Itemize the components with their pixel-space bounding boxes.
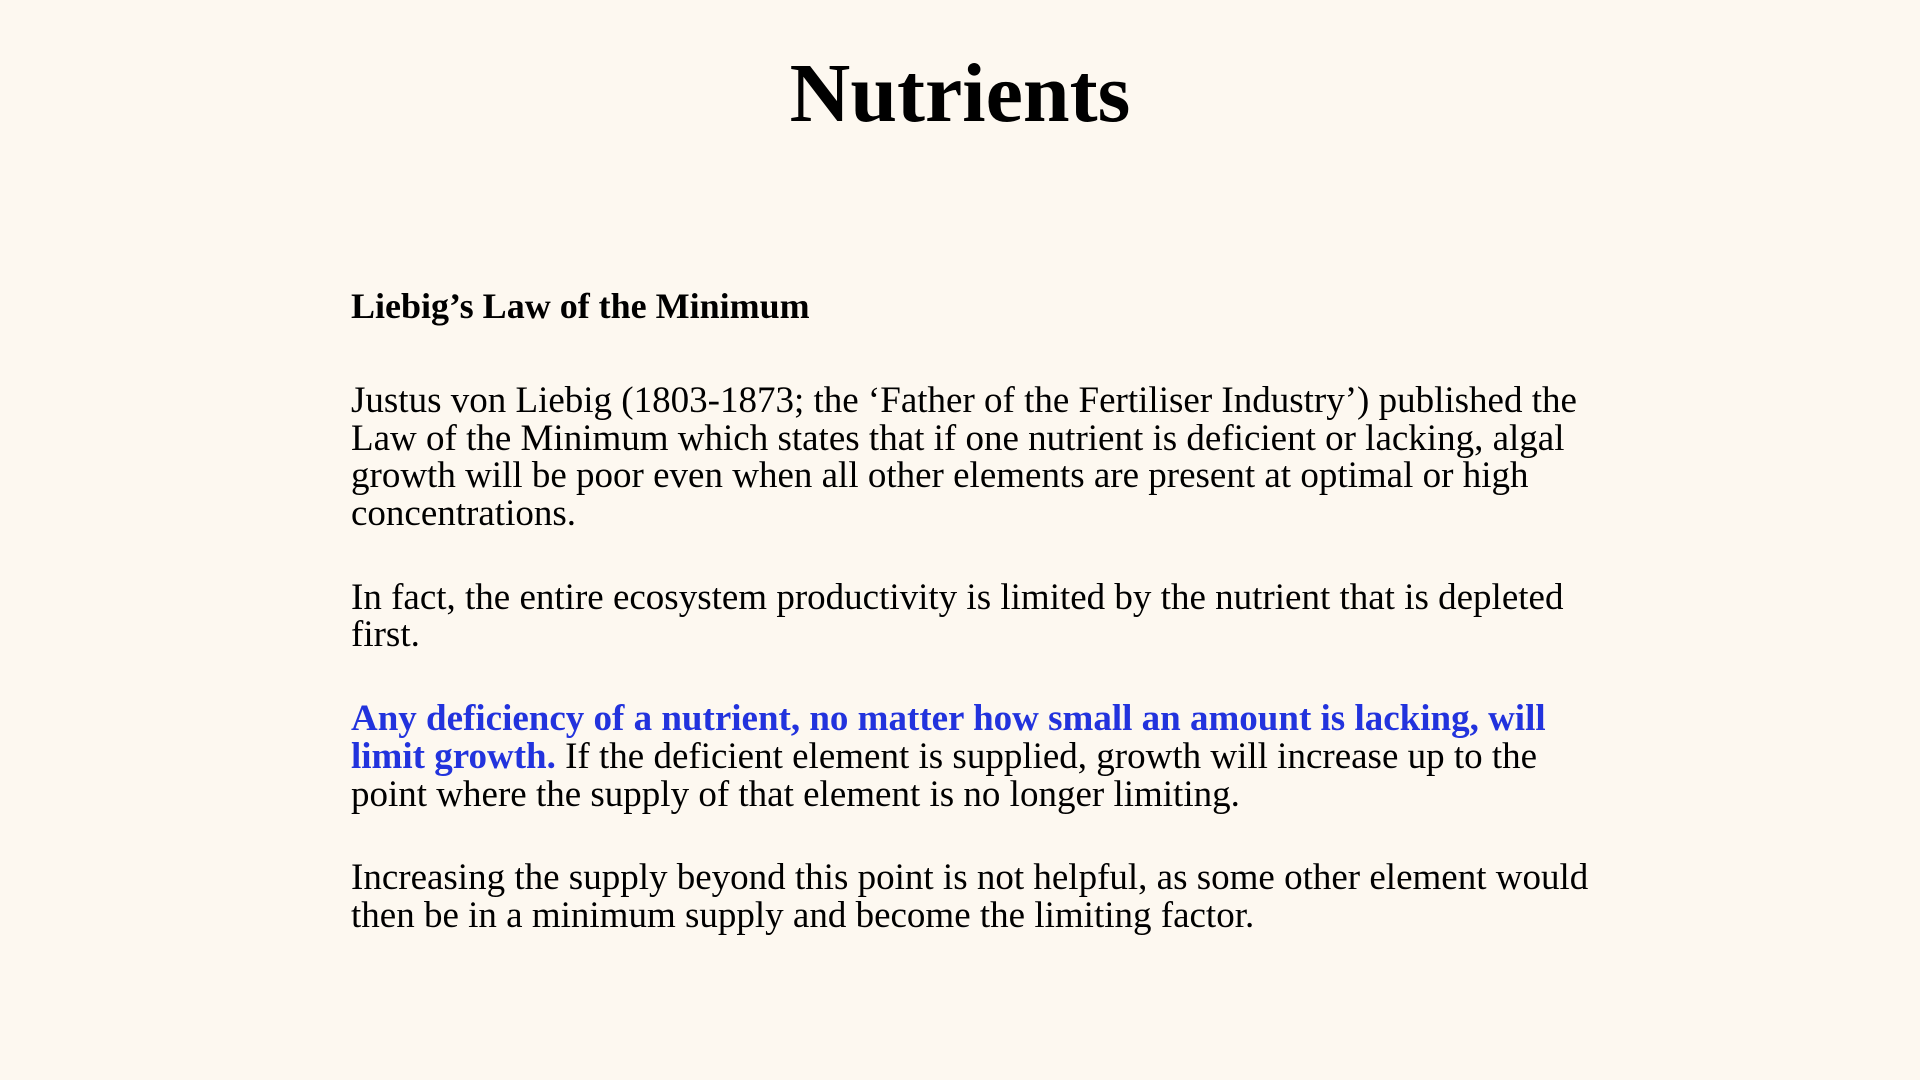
section-heading: Liebig’s Law of the Minimum [351,288,1601,326]
spacer [351,326,1601,382]
slide-canvas: Nutrients Liebig’s Law of the Minimum Ju… [0,0,1920,1080]
paragraph-deficiency: Any deficiency of a nutrient, no matter … [351,700,1601,813]
paragraph-liebig-bio: Justus von Liebig (1803-1873; the ‘Fathe… [351,382,1601,533]
spacer [351,813,1601,859]
paragraph-excess-supply: Increasing the supply beyond this point … [351,859,1601,934]
paragraph-ecosystem-productivity: In fact, the entire ecosystem productivi… [351,579,1601,654]
slide-body: Liebig’s Law of the Minimum Justus von L… [351,288,1601,935]
page-title: Nutrients [0,52,1920,136]
spacer [351,654,1601,700]
spacer [351,533,1601,579]
